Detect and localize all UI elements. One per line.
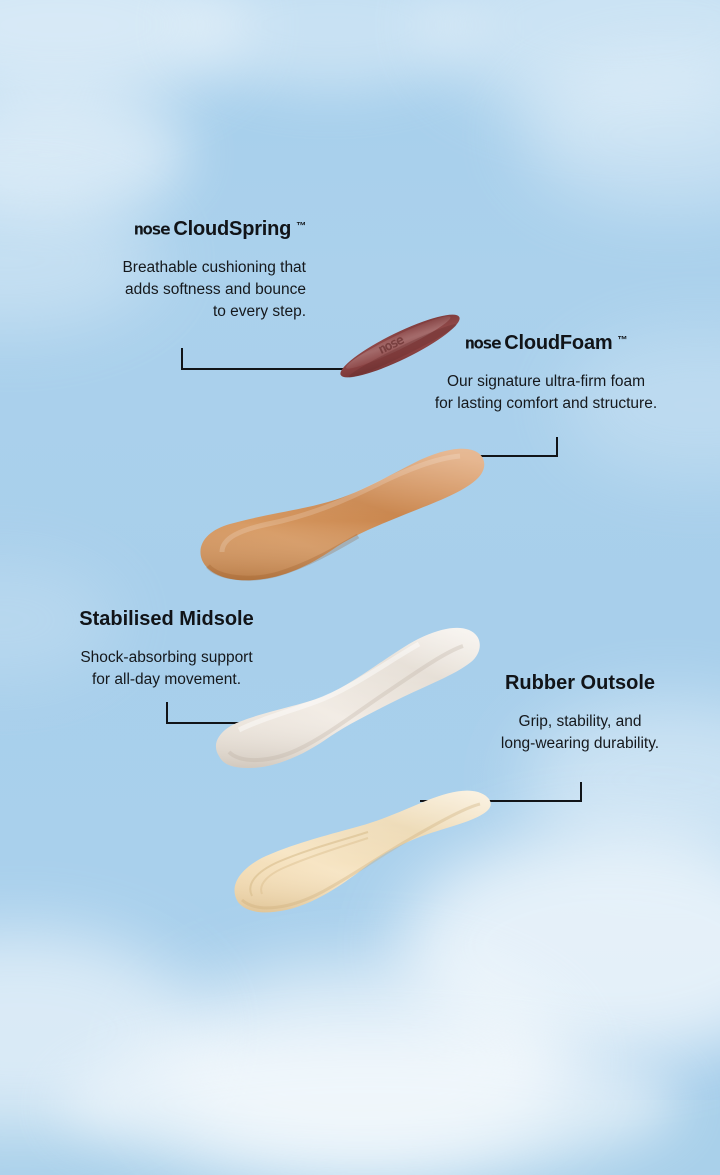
feature-block-cloudspring: nose CloudSpring ™ Breathable cushioning…	[62, 218, 306, 323]
rubber-outsole-description: Grip, stability, and long-wearing durabi…	[455, 711, 705, 755]
leader-tick-vertical	[556, 437, 558, 457]
component-stabiliser-midsole	[205, 612, 495, 782]
cloudfoam-brand-name: CloudFoam	[504, 332, 612, 355]
cloud-bottom-edge	[60, 1035, 680, 1175]
component-foam-midsole	[192, 432, 492, 592]
nose-logo-icon: nose	[464, 335, 499, 353]
nose-logo-icon: nose	[134, 221, 169, 239]
foam-midsole-svg	[192, 432, 492, 592]
component-rubber-outsole	[222, 778, 522, 928]
rubber-outsole-svg	[222, 778, 522, 928]
infographic-canvas: nose CloudSpring ™ Breathable cushioning…	[0, 0, 720, 1100]
leader-line-cloudspring	[181, 348, 343, 370]
feature-block-rubber-outsole: Rubber Outsole Grip, stability, and long…	[455, 672, 705, 755]
cloudspring-description: Breathable cushioning that adds softness…	[62, 257, 306, 323]
leader-tick-vertical	[580, 782, 582, 802]
trademark-icon: ™	[617, 335, 627, 346]
rubber-outsole-title: Rubber Outsole	[455, 672, 705, 695]
midsole-shading	[216, 628, 480, 768]
leader-tick-vertical	[166, 702, 168, 724]
foam-shading	[200, 449, 484, 581]
cloudspring-brand-name: CloudSpring	[173, 218, 291, 241]
leader-segment-horizontal	[181, 368, 343, 370]
cloudspring-title: nose CloudSpring ™	[62, 218, 306, 241]
leader-tick-vertical	[181, 348, 183, 370]
stabiliser-midsole-svg	[205, 612, 495, 782]
trademark-icon: ™	[296, 221, 306, 232]
cloudfoam-description: Our signature ultra-firm foam for lastin…	[398, 371, 694, 415]
feature-block-cloudfoam: nose CloudFoam ™ Our signature ultra-fir…	[398, 332, 694, 415]
outsole-shading	[234, 791, 490, 913]
cloudfoam-title: nose CloudFoam ™	[398, 332, 694, 355]
